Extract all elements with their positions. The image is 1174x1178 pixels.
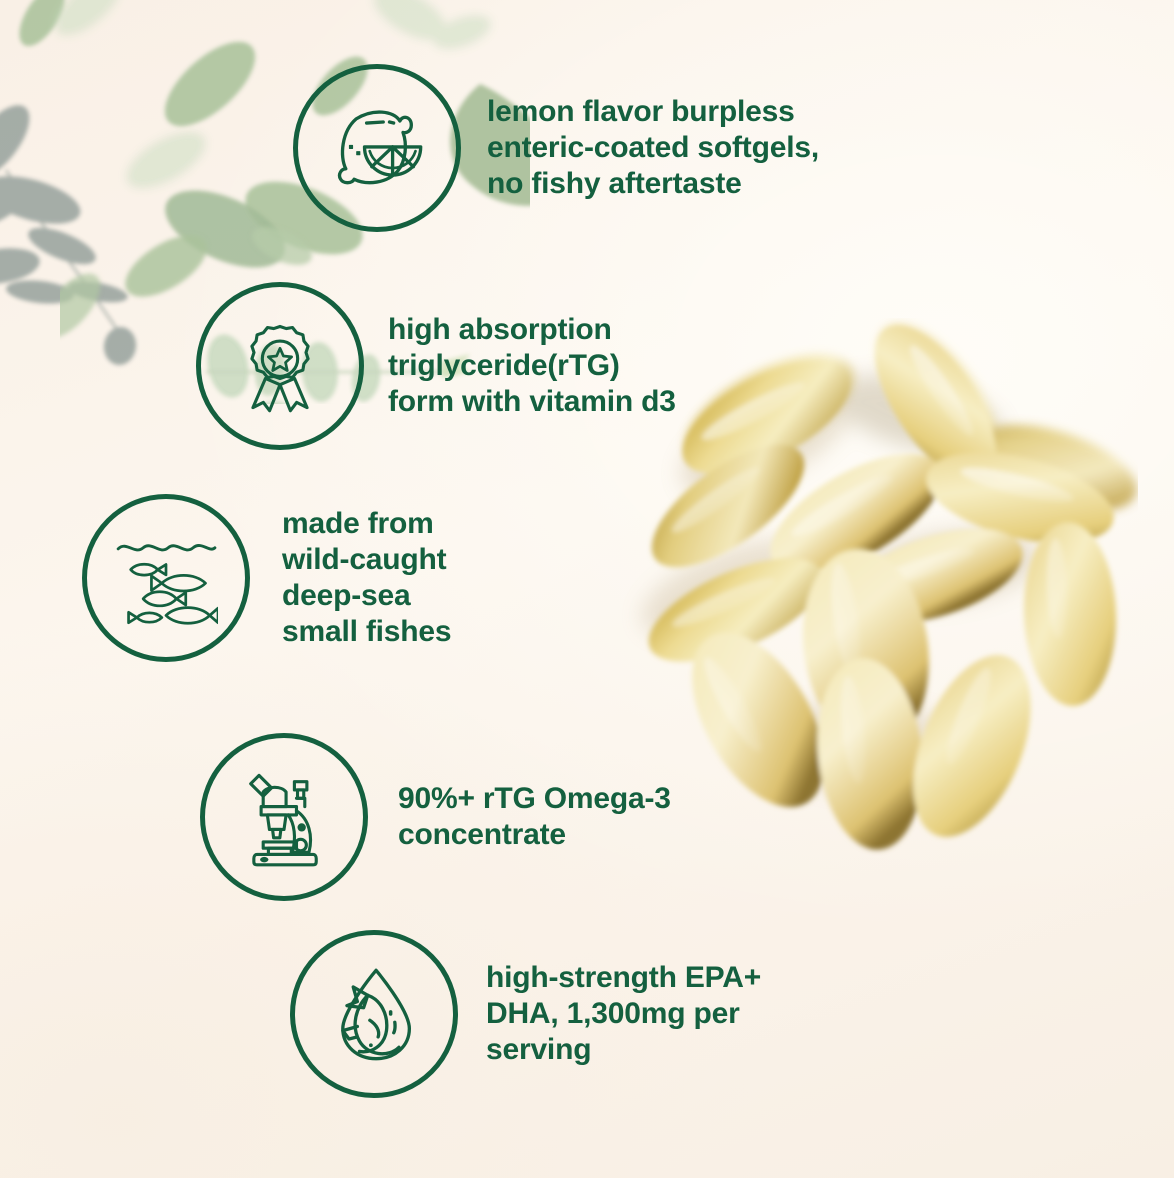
feature-row-high-absorption: high absorption triglyceride(rTG) form w… [196,282,676,450]
feature-label-epa-dha-strength: high-strength EPA+ DHA, 1,300mg per serv… [486,960,761,1068]
award-ribbon-icon-circle [196,282,364,450]
fish-in-droplet-icon [322,962,426,1066]
lemon-slice-icon-circle [293,64,461,232]
microscope-icon [232,765,336,869]
feature-row-rtg-concentrate: 90%+ rTG Omega-3 concentrate [200,733,671,901]
feature-label-wild-caught: made from wild-caught deep-sea small fis… [282,506,451,650]
feature-label-rtg-concentrate: 90%+ rTG Omega-3 concentrate [398,781,671,853]
feature-label-lemon-flavor: lemon flavor burpless enteric-coated sof… [487,94,819,202]
softgel-capsule-cluster [618,318,1138,898]
feature-row-epa-dha-strength: high-strength EPA+ DHA, 1,300mg per serv… [290,930,761,1098]
feature-row-lemon-flavor: lemon flavor burpless enteric-coated sof… [293,64,819,232]
award-ribbon-icon [228,314,332,418]
microscope-icon-circle [200,733,368,901]
fish-school-water-icon-circle [82,494,250,662]
feature-label-high-absorption: high absorption triglyceride(rTG) form w… [388,312,676,420]
fish-school-water-icon [114,526,218,630]
feature-row-wild-caught: made from wild-caught deep-sea small fis… [82,494,451,662]
lemon-slice-icon [325,96,429,200]
infographic-canvas: lemon flavor burpless enteric-coated sof… [0,0,1174,1178]
fish-in-droplet-icon-circle [290,930,458,1098]
